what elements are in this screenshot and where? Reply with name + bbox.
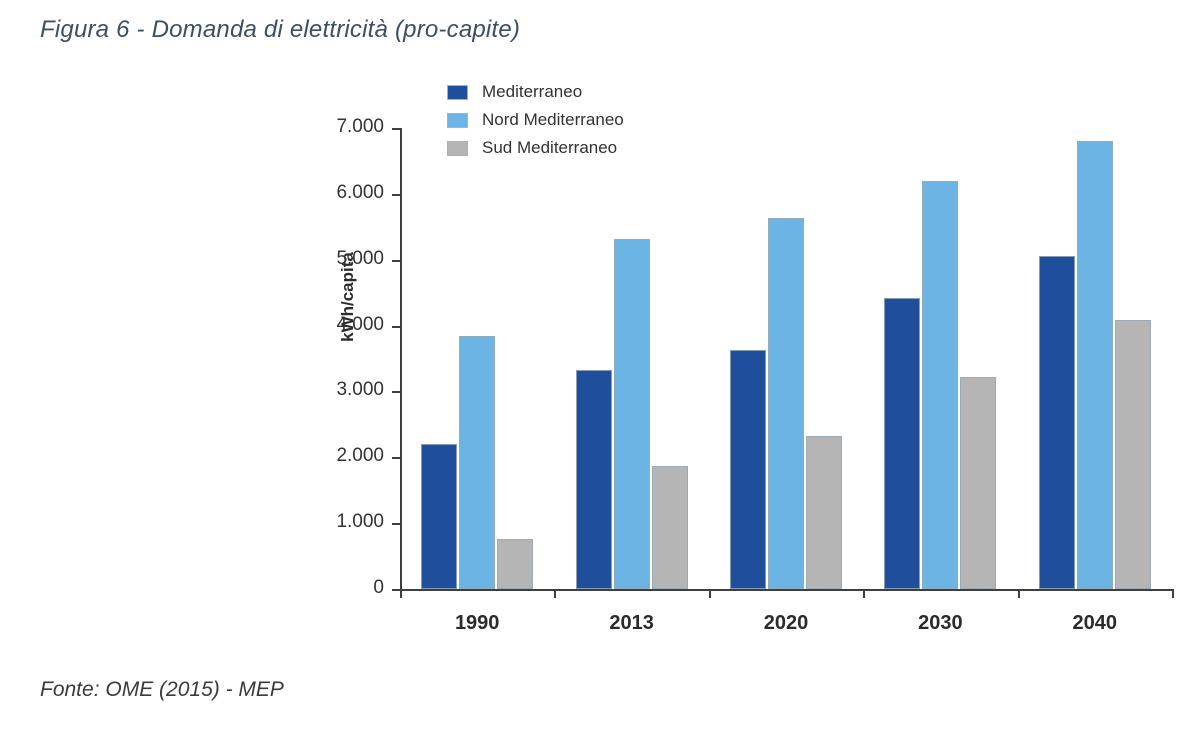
bar-2030-sud-mediterraneo	[960, 377, 996, 589]
y-axis-tick-label: 0	[304, 577, 384, 599]
x-axis-tick	[400, 589, 402, 598]
legend-item: Mediterraneo	[447, 82, 624, 102]
x-axis-tick-label: 2040	[1018, 612, 1172, 635]
x-axis-tick	[1018, 589, 1020, 598]
y-axis-tick-label: 3.000	[304, 379, 384, 401]
legend-label: Nord Mediterraneo	[482, 110, 624, 130]
y-axis-tick	[392, 260, 400, 262]
x-axis-tick	[863, 589, 865, 598]
legend-swatch-icon	[447, 113, 468, 128]
y-axis-tick-label: 1.000	[304, 511, 384, 533]
bar-1990-nord-mediterraneo	[459, 336, 495, 589]
legend-label: Mediterraneo	[482, 82, 582, 102]
x-axis-tick-label: 2013	[554, 612, 708, 635]
y-axis-tick-label: 4.000	[304, 314, 384, 336]
y-axis-tick	[392, 128, 400, 130]
x-axis-tick	[709, 589, 711, 598]
legend-swatch-icon	[447, 85, 468, 100]
bar-2040-mediterraneo	[1039, 256, 1075, 589]
y-axis-tick-label: 7.000	[304, 116, 384, 138]
bar-2040-sud-mediterraneo	[1115, 320, 1151, 589]
y-axis-tick	[392, 326, 400, 328]
x-axis-line	[400, 589, 1172, 591]
y-axis-tick	[392, 194, 400, 196]
x-axis-tick	[1172, 589, 1174, 598]
x-axis-tick-label: 2030	[863, 612, 1017, 635]
y-axis-tick	[392, 457, 400, 459]
plot-area	[400, 128, 1172, 589]
y-axis-tick	[392, 391, 400, 393]
y-axis-tick	[392, 523, 400, 525]
x-axis-tick-label: 1990	[400, 612, 554, 635]
y-axis-tick-label: 5.000	[304, 248, 384, 270]
bar-2020-sud-mediterraneo	[806, 436, 842, 589]
bar-2030-mediterraneo	[884, 298, 920, 589]
bar-2020-mediterraneo	[730, 350, 766, 589]
x-axis-tick	[554, 589, 556, 598]
x-axis-tick-label: 2020	[709, 612, 863, 635]
bar-1990-sud-mediterraneo	[497, 539, 533, 589]
bar-2030-nord-mediterraneo	[922, 181, 958, 589]
y-axis-tick	[392, 589, 400, 591]
y-axis-tick-label: 6.000	[304, 182, 384, 204]
bar-2020-nord-mediterraneo	[768, 218, 804, 589]
bar-2013-mediterraneo	[576, 370, 612, 589]
bar-2013-nord-mediterraneo	[614, 239, 650, 589]
y-axis-tick-label: 2.000	[304, 445, 384, 467]
bar-1990-mediterraneo	[421, 444, 457, 589]
bar-chart: MediterraneoNord MediterraneoSud Mediter…	[0, 0, 1200, 660]
bar-2013-sud-mediterraneo	[652, 466, 688, 589]
legend-item: Nord Mediterraneo	[447, 110, 624, 130]
source-caption: Fonte: OME (2015) - MEP	[40, 678, 284, 702]
bar-2040-nord-mediterraneo	[1077, 141, 1113, 589]
